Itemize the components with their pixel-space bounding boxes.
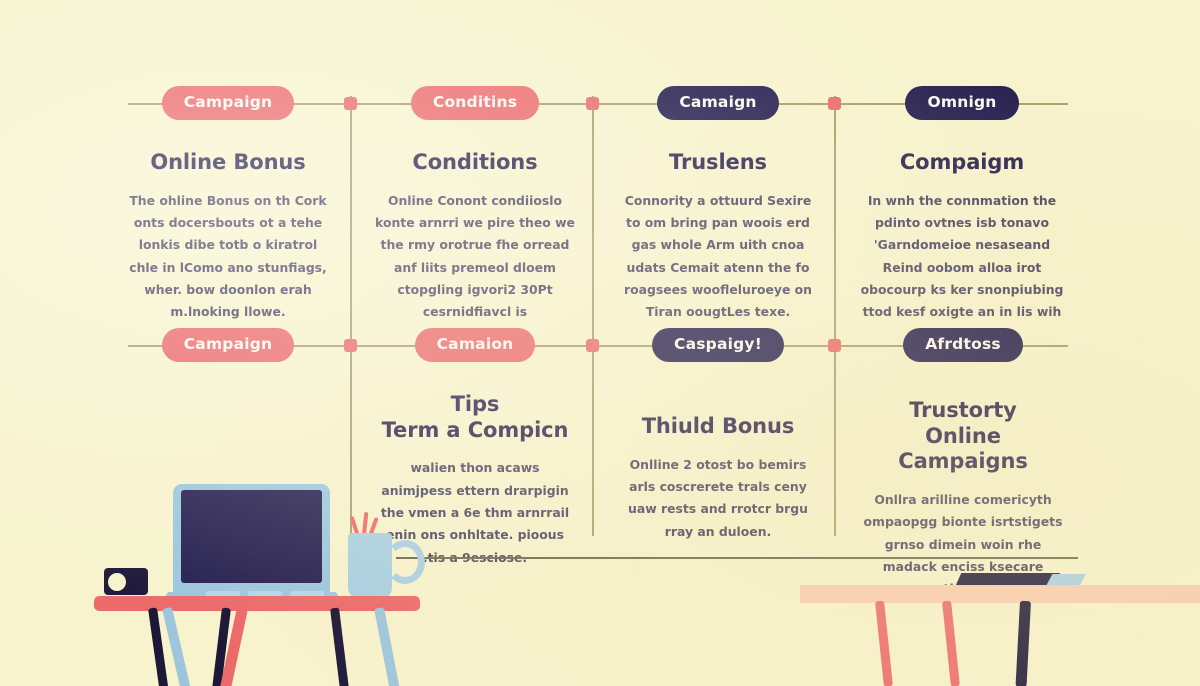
card-title-r2c3: Thiuld Bonus (618, 414, 818, 440)
desk-surface-left (94, 596, 420, 611)
card-r2c3: Caspaigy! Thiuld Bonus Onlline 2 otost b… (618, 328, 818, 543)
badge-pill-r2c3[interactable]: Caspaigy! (652, 328, 784, 362)
pill-wrap-r1c3: Camaign (618, 86, 818, 120)
connector-node (586, 339, 599, 352)
laptop-screen (181, 490, 322, 583)
card-title-r1c3: Truslens (618, 150, 818, 176)
connector-node (586, 97, 599, 110)
infographic-canvas: Campaign Online Bonus The ohline Bonus o… (0, 0, 1200, 686)
badge-pill-r1c3[interactable]: Camaign (657, 86, 778, 120)
camera-lens-icon (108, 573, 126, 591)
pill-wrap-r2c3: Caspaigy! (618, 328, 818, 362)
card-body-r1c3: Connority a ottuurd Sexire to om bring p… (618, 190, 818, 324)
right-desk-illustration (820, 0, 1200, 686)
card-body-r2c3: Onlline 2 otost bo bemirs arls coscreret… (618, 454, 818, 543)
desk-leg (942, 601, 960, 686)
desk-leg (330, 607, 350, 686)
connector-vline (592, 96, 594, 536)
card-r1c3: Camaign Truslens Connority a ottuurd Sex… (618, 86, 818, 324)
desk-leg (1016, 601, 1031, 686)
desk-surface-right (800, 585, 1200, 603)
left-desk-illustration (0, 0, 460, 686)
mug-handle (385, 540, 425, 584)
desk-leg (162, 607, 192, 686)
desk-leg (374, 607, 401, 686)
desk-leg (875, 601, 893, 686)
